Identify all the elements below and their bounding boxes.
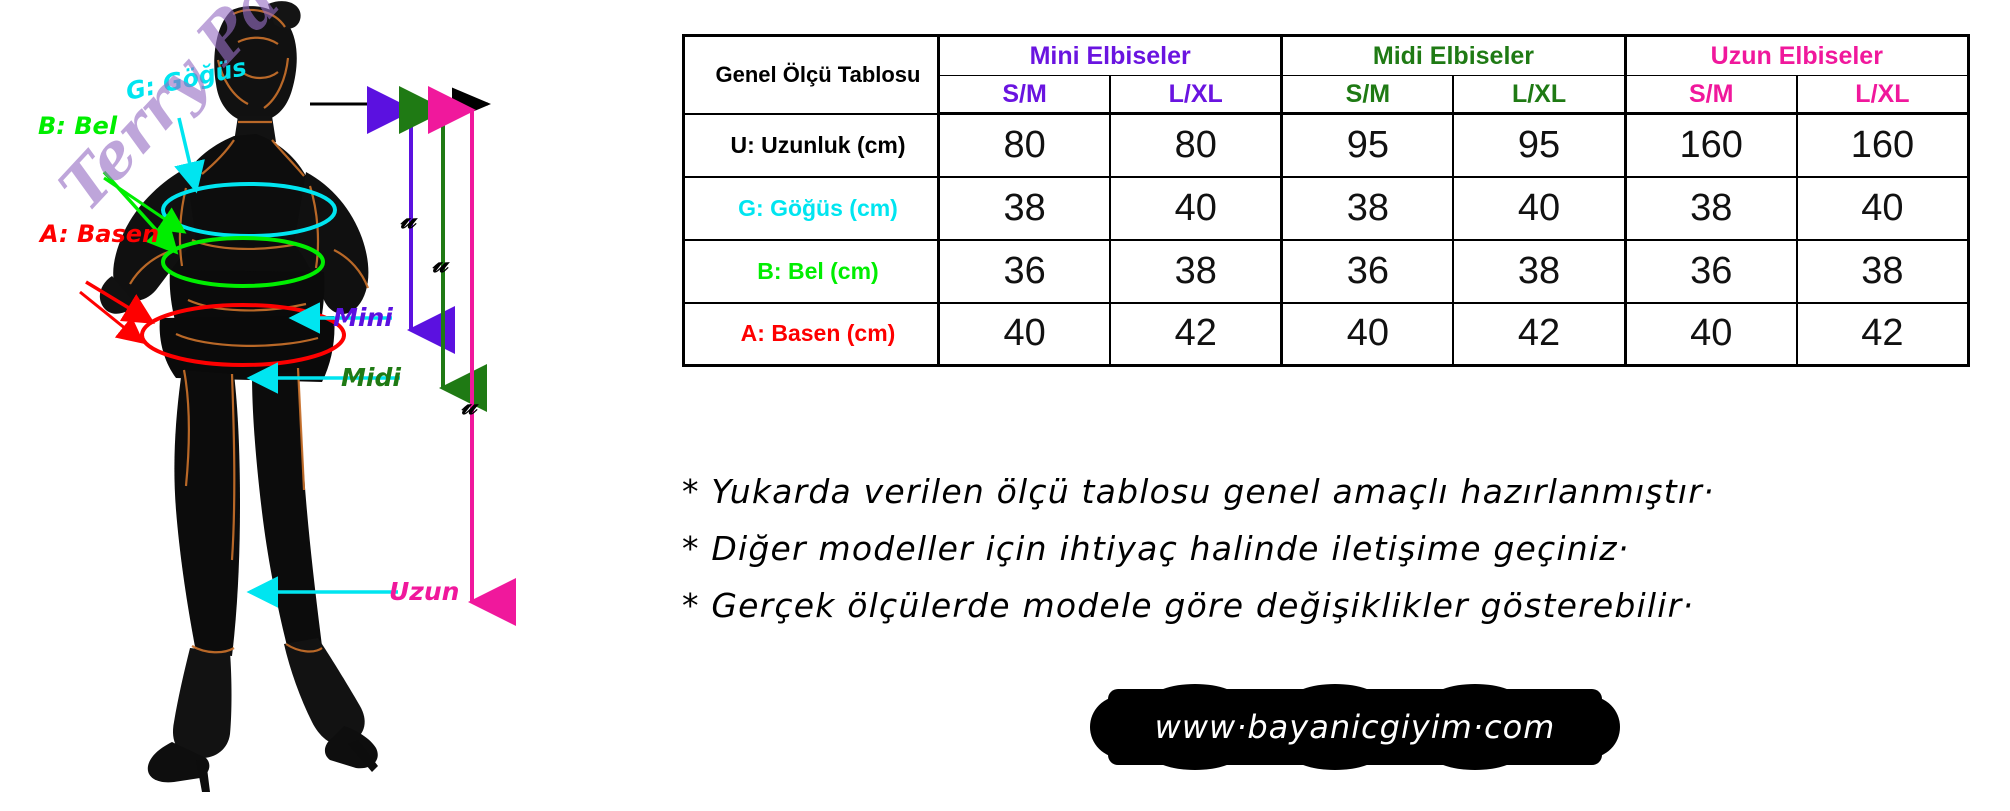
cell-bel-midi-sm: 36 (1282, 240, 1454, 303)
cell-gogus-mini-sm: 38 (939, 177, 1111, 240)
hip-label: A: Basen (38, 220, 159, 248)
cell-bel-midi-lxl: 38 (1453, 240, 1625, 303)
cell-bel-mini-sm: 36 (939, 240, 1111, 303)
size-header-uzun-sm: S/M (1625, 76, 1797, 114)
table-row: A: Basen (cm) 40 42 40 42 40 42 (684, 303, 1969, 366)
size-header-mini-sm: S/M (939, 76, 1111, 114)
group-header-uzun: Uzun Elbiseler (1625, 36, 1968, 76)
website-banner[interactable]: www·bayanicgiyim·com (1090, 696, 1620, 758)
size-header-midi-lxl: L/XL (1453, 76, 1625, 114)
cell-uzunluk-mini-lxl: 80 (1110, 114, 1282, 177)
cell-gogus-uzun-sm: 38 (1625, 177, 1797, 240)
row-label-gogus: G: Göğüs (cm) (684, 177, 939, 240)
row-label-uzunluk: U: Uzunluk (cm) (684, 114, 939, 177)
cell-gogus-mini-lxl: 40 (1110, 177, 1282, 240)
model-silhouette (100, 1, 378, 792)
mini-label: Mini (333, 303, 393, 332)
row-label-basen: A: Basen (cm) (684, 303, 939, 366)
cell-bel-uzun-lxl: 38 (1797, 240, 1969, 303)
cell-basen-mini-lxl: 42 (1110, 303, 1282, 366)
size-table-container: Genel Ölçü Tablosu Mini Elbiseler Midi E… (682, 34, 1970, 367)
u-mark-midi: 𝓊 (432, 248, 450, 279)
u-mark-mini: 𝓊 (400, 204, 418, 235)
info-panel: Genel Ölçü Tablosu Mini Elbiseler Midi E… (660, 0, 2010, 811)
size-header-mini-lxl: L/XL (1110, 76, 1282, 114)
cell-uzunluk-uzun-sm: 160 (1625, 114, 1797, 177)
waist-label: B: Bel (38, 112, 118, 140)
cell-bel-uzun-sm: 36 (1625, 240, 1797, 303)
size-header-midi-sm: S/M (1282, 76, 1454, 114)
u-mark-uzun: 𝓊 (461, 390, 479, 421)
table-corner-label: Genel Ölçü Tablosu (684, 36, 939, 114)
group-header-mini: Mini Elbiseler (939, 36, 1282, 76)
website-url[interactable]: www·bayanicgiyim·com (1155, 708, 1556, 746)
row-label-bel: B: Bel (cm) (684, 240, 939, 303)
cell-uzunluk-midi-sm: 95 (1282, 114, 1454, 177)
midi-label: Midi (341, 363, 401, 392)
cell-uzunluk-mini-sm: 80 (939, 114, 1111, 177)
table-row: G: Göğüs (cm) 38 40 38 40 38 40 (684, 177, 1969, 240)
group-header-midi: Midi Elbiseler (1282, 36, 1625, 76)
uzun-label: Uzun (389, 577, 459, 606)
cell-basen-midi-sm: 40 (1282, 303, 1454, 366)
size-table: Genel Ölçü Tablosu Mini Elbiseler Midi E… (682, 34, 1970, 367)
cell-basen-uzun-sm: 40 (1625, 303, 1797, 366)
cell-bel-mini-lxl: 38 (1110, 240, 1282, 303)
cell-basen-midi-lxl: 42 (1453, 303, 1625, 366)
table-group-header-row: Genel Ölçü Tablosu Mini Elbiseler Midi E… (684, 36, 1969, 76)
cell-gogus-uzun-lxl: 40 (1797, 177, 1969, 240)
note-line-3: * Gerçek ölçülerde modele göre değişikli… (682, 586, 1992, 625)
size-chart-page: G: Göğüs B: Bel A: Basen 𝓊 𝓊 𝓊 Mini Midi (0, 0, 2010, 811)
size-header-uzun-lxl: L/XL (1797, 76, 1969, 114)
cell-basen-mini-sm: 40 (939, 303, 1111, 366)
cell-uzunluk-uzun-lxl: 160 (1797, 114, 1969, 177)
cell-gogus-midi-sm: 38 (1282, 177, 1454, 240)
cell-uzunluk-midi-lxl: 95 (1453, 114, 1625, 177)
table-row: B: Bel (cm) 36 38 36 38 36 38 (684, 240, 1969, 303)
cell-basen-uzun-lxl: 42 (1797, 303, 1969, 366)
note-line-2: * Diğer modeller için ihtiyaç halinde il… (682, 529, 1992, 568)
cell-gogus-midi-lxl: 40 (1453, 177, 1625, 240)
table-row: U: Uzunluk (cm) 80 80 95 95 160 160 (684, 114, 1969, 177)
note-line-1: * Yukarda verilen ölçü tablosu genel ama… (682, 472, 1992, 511)
notes-list: * Yukarda verilen ölçü tablosu genel ama… (682, 472, 1992, 643)
model-illustration-panel: G: Göğüs B: Bel A: Basen 𝓊 𝓊 𝓊 Mini Midi (0, 0, 660, 811)
